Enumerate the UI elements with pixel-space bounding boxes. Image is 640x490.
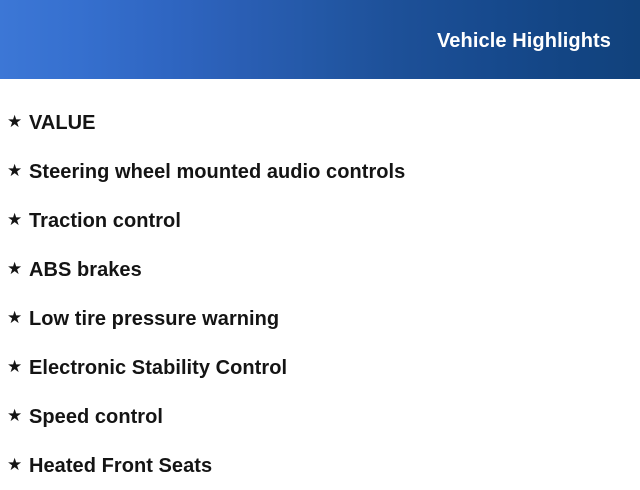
list-item-label: VALUE bbox=[29, 112, 96, 134]
list-item: ★ Steering wheel mounted audio controls bbox=[0, 147, 640, 196]
list-item-label: ABS brakes bbox=[29, 259, 142, 281]
list-item-label: Traction control bbox=[29, 210, 181, 232]
star-icon: ★ bbox=[7, 455, 29, 475]
star-icon: ★ bbox=[7, 210, 29, 230]
list-item: ★ Electronic Stability Control bbox=[0, 343, 640, 392]
list-item: ★ VALUE bbox=[0, 98, 640, 147]
star-icon: ★ bbox=[7, 357, 29, 377]
list-item-label: Low tire pressure warning bbox=[29, 308, 279, 330]
star-icon: ★ bbox=[7, 308, 29, 328]
vehicle-highlights-page: Vehicle Highlights ★ VALUE ★ Steering wh… bbox=[0, 0, 640, 480]
star-icon: ★ bbox=[7, 259, 29, 279]
star-icon: ★ bbox=[7, 112, 29, 132]
star-icon: ★ bbox=[7, 406, 29, 426]
list-item-label: Electronic Stability Control bbox=[29, 357, 287, 379]
star-icon: ★ bbox=[7, 161, 29, 181]
list-item-label: Steering wheel mounted audio controls bbox=[29, 161, 405, 183]
header-banner: Vehicle Highlights bbox=[0, 0, 640, 79]
list-item-label: Speed control bbox=[29, 406, 163, 428]
list-item-label: Heated Front Seats bbox=[29, 455, 212, 477]
list-item: ★ Traction control bbox=[0, 196, 640, 245]
list-item: ★ ABS brakes bbox=[0, 245, 640, 294]
page-title: Vehicle Highlights bbox=[437, 30, 611, 52]
list-item: ★ Speed control bbox=[0, 392, 640, 441]
list-item: ★ Low tire pressure warning bbox=[0, 294, 640, 343]
list-item: ★ Heated Front Seats bbox=[0, 441, 640, 490]
vehicle-highlights-list: ★ VALUE ★ Steering wheel mounted audio c… bbox=[0, 79, 640, 490]
